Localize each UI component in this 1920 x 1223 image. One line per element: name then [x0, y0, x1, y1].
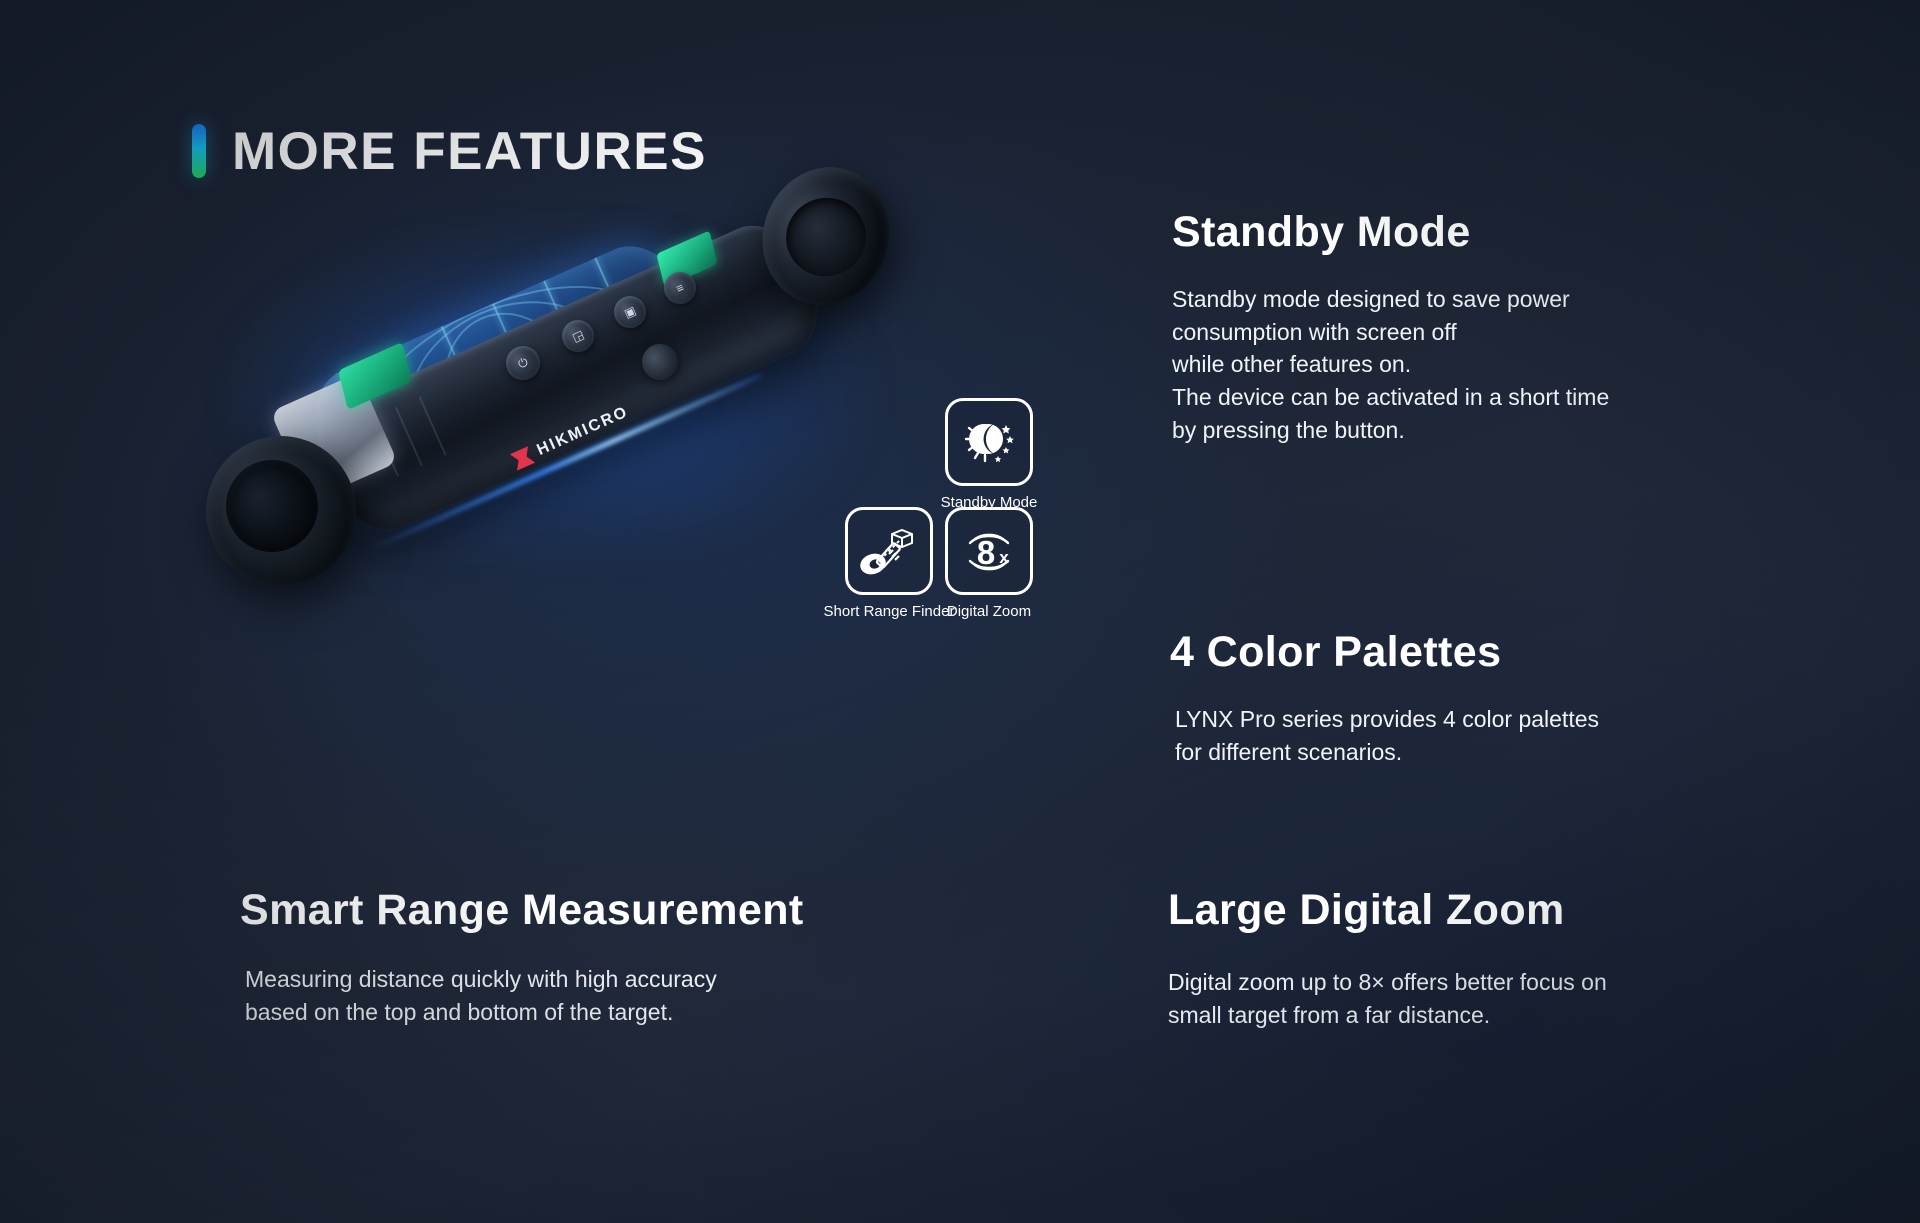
- icon-caption: Digital Zoom: [947, 604, 1031, 621]
- feature-body: Standby mode designed to save power cons…: [1172, 283, 1609, 446]
- feature-heading: Standby Mode: [1172, 210, 1609, 255]
- feature-icon-digital-zoom[interactable]: 8 x Digital Zoom: [945, 507, 1033, 621]
- zoom-unit: x: [999, 548, 1009, 567]
- feature-color-palettes: 4 Color Palettes LYNX Pro series provide…: [1170, 630, 1599, 768]
- feature-body: Digital zoom up to 8× offers better focu…: [1168, 966, 1607, 1031]
- feature-icon-short-range-finder[interactable]: Short Range Finder: [845, 507, 933, 621]
- page-background: MORE FEATURES ⏻ ◲: [0, 0, 1920, 1223]
- feature-body-line: for different scenarios.: [1175, 736, 1599, 769]
- feature-icon-standby-mode[interactable]: Standby Mode: [945, 398, 1033, 512]
- feature-body-line: small target from a far distance.: [1168, 999, 1607, 1032]
- product-image: ⏻ ◲ ▣ ≡ HIKMICRO: [190, 160, 950, 620]
- feature-body-line: based on the top and bottom of the targe…: [245, 996, 804, 1029]
- feature-body-line: LYNX Pro series provides 4 color palette…: [1175, 703, 1599, 736]
- feature-smart-range-measurement: Smart Range Measurement Measuring distan…: [240, 888, 804, 1028]
- feature-body-line: by pressing the button.: [1172, 414, 1609, 447]
- feature-body: Measuring distance quickly with high acc…: [245, 963, 804, 1028]
- feature-heading: Large Digital Zoom: [1168, 888, 1607, 933]
- feature-body-line: while other features on.: [1172, 348, 1609, 381]
- digital-zoom-icon: 8 x: [945, 507, 1033, 595]
- standby-mode-icon: [945, 398, 1033, 486]
- feature-heading: 4 Color Palettes: [1170, 630, 1599, 675]
- range-finder-icon: [845, 507, 933, 595]
- feature-body-line: Digital zoom up to 8× offers better focu…: [1168, 966, 1607, 999]
- feature-body-line: Standby mode designed to save power: [1172, 283, 1609, 316]
- feature-standby-mode: Standby Mode Standby mode designed to sa…: [1172, 210, 1609, 446]
- feature-body-line: The device can be activated in a short t…: [1172, 381, 1609, 414]
- zoom-value: 8: [977, 534, 995, 571]
- feature-large-digital-zoom: Large Digital Zoom Digital zoom up to 8×…: [1168, 888, 1607, 1031]
- feature-heading: Smart Range Measurement: [240, 888, 804, 933]
- feature-body: LYNX Pro series provides 4 color palette…: [1175, 703, 1599, 768]
- feature-body-line: Measuring distance quickly with high acc…: [245, 963, 804, 996]
- icon-caption: Short Range Finder: [824, 604, 955, 621]
- feature-body-line: consumption with screen off: [1172, 316, 1609, 349]
